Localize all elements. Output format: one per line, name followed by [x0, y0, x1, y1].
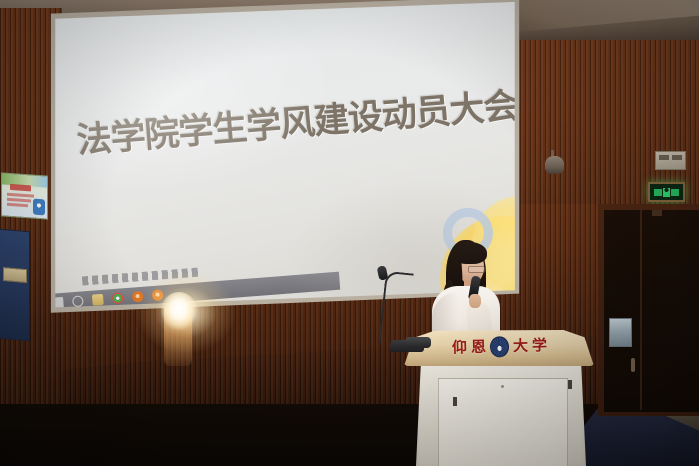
wall-sign-glyph — [659, 155, 669, 160]
wood-panel-wall-right — [520, 14, 699, 204]
podium-latch — [568, 380, 572, 389]
wall-notice-board — [0, 229, 30, 342]
wall-sign-glyph — [672, 155, 682, 160]
glasses — [468, 266, 485, 273]
podium-screw — [501, 385, 504, 388]
poster-text-line — [7, 203, 29, 207]
wall-speaker — [545, 156, 564, 174]
exit-sign-bar — [654, 189, 662, 196]
wall-poster — [1, 172, 48, 219]
app-orange2-icon[interactable] — [152, 289, 164, 301]
poster-title-block — [10, 184, 31, 191]
door-handle[interactable] — [631, 358, 635, 372]
podium-latch — [453, 397, 457, 406]
brand-char-1: 仰 — [452, 340, 467, 355]
podium-front-panel — [438, 378, 568, 466]
door-notice-paper — [609, 318, 632, 347]
university-emblem-icon — [490, 336, 510, 357]
file-explorer-icon[interactable] — [92, 293, 104, 305]
running-man-icon — [663, 188, 670, 197]
exit-door[interactable] — [604, 210, 699, 412]
brand-char-3: 大 — [513, 338, 528, 353]
search-icon[interactable] — [72, 295, 84, 307]
wall-lamp — [160, 292, 198, 334]
chrome-icon[interactable] — [112, 292, 124, 304]
poster-text-line — [7, 193, 35, 198]
wall-sign — [655, 151, 686, 170]
poster-image — [33, 198, 46, 216]
microphone-base-top — [405, 337, 431, 348]
brand-char-4: 学 — [532, 338, 547, 353]
emergency-exit-sign — [648, 182, 685, 202]
hand — [469, 294, 481, 308]
door-top-plate — [652, 210, 662, 216]
door-seam — [640, 210, 642, 410]
brand-char-2: 恩 — [471, 339, 486, 354]
notice-board-label — [3, 267, 28, 283]
podium-brand: 仰 恩 大 学 — [452, 334, 572, 357]
app-orange-icon[interactable] — [132, 290, 144, 302]
slide-title: 法学院学生学风建设动员大会 — [75, 77, 518, 163]
exit-sign-bar — [671, 189, 679, 196]
poster-text-line — [7, 198, 32, 203]
lecture-hall-photo: 法学院学生学风建设动员大会 — [0, 0, 699, 466]
